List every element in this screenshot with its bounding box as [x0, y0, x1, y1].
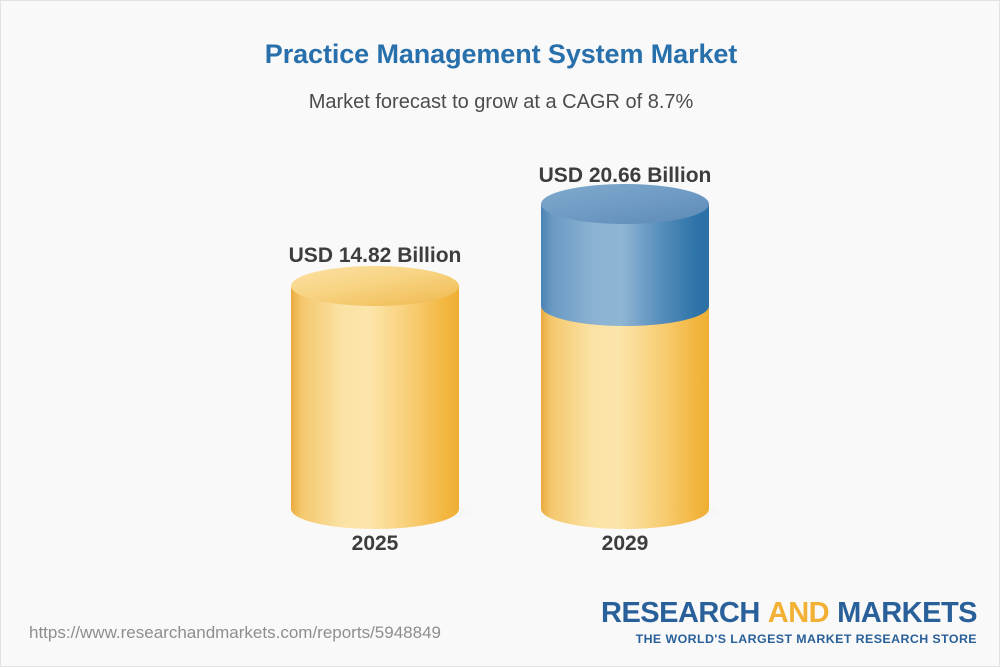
cylinder-bar-chart	[1, 1, 1000, 667]
brand-tagline: THE WORLD'S LARGEST MARKET RESEARCH STOR…	[601, 633, 977, 645]
bar-2025[interactable]	[286, 266, 478, 529]
category-label-2029: 2029	[541, 532, 709, 556]
bar-value-label-2029: USD 20.66 Billion	[481, 164, 769, 188]
brand-word-and: AND	[768, 597, 829, 629]
brand-wordmark: RESEARCHANDMARKETS	[601, 599, 977, 628]
bar-value-label-2025: USD 14.82 Billion	[231, 244, 519, 268]
category-label-2025: 2025	[291, 532, 459, 556]
bar-2029[interactable]	[536, 184, 728, 529]
brand-logo[interactable]: RESEARCHANDMARKETS THE WORLD'S LARGEST M…	[601, 599, 977, 645]
chart-canvas: Practice Management System Market Market…	[0, 0, 1000, 667]
brand-word-markets: MARKETS	[837, 597, 977, 629]
source-url[interactable]: https://www.researchandmarkets.com/repor…	[29, 623, 441, 643]
plot-area: USD 14.82 Billion USD 20.66 Billion 2025…	[1, 1, 1000, 667]
brand-word-research: RESEARCH	[601, 597, 760, 629]
